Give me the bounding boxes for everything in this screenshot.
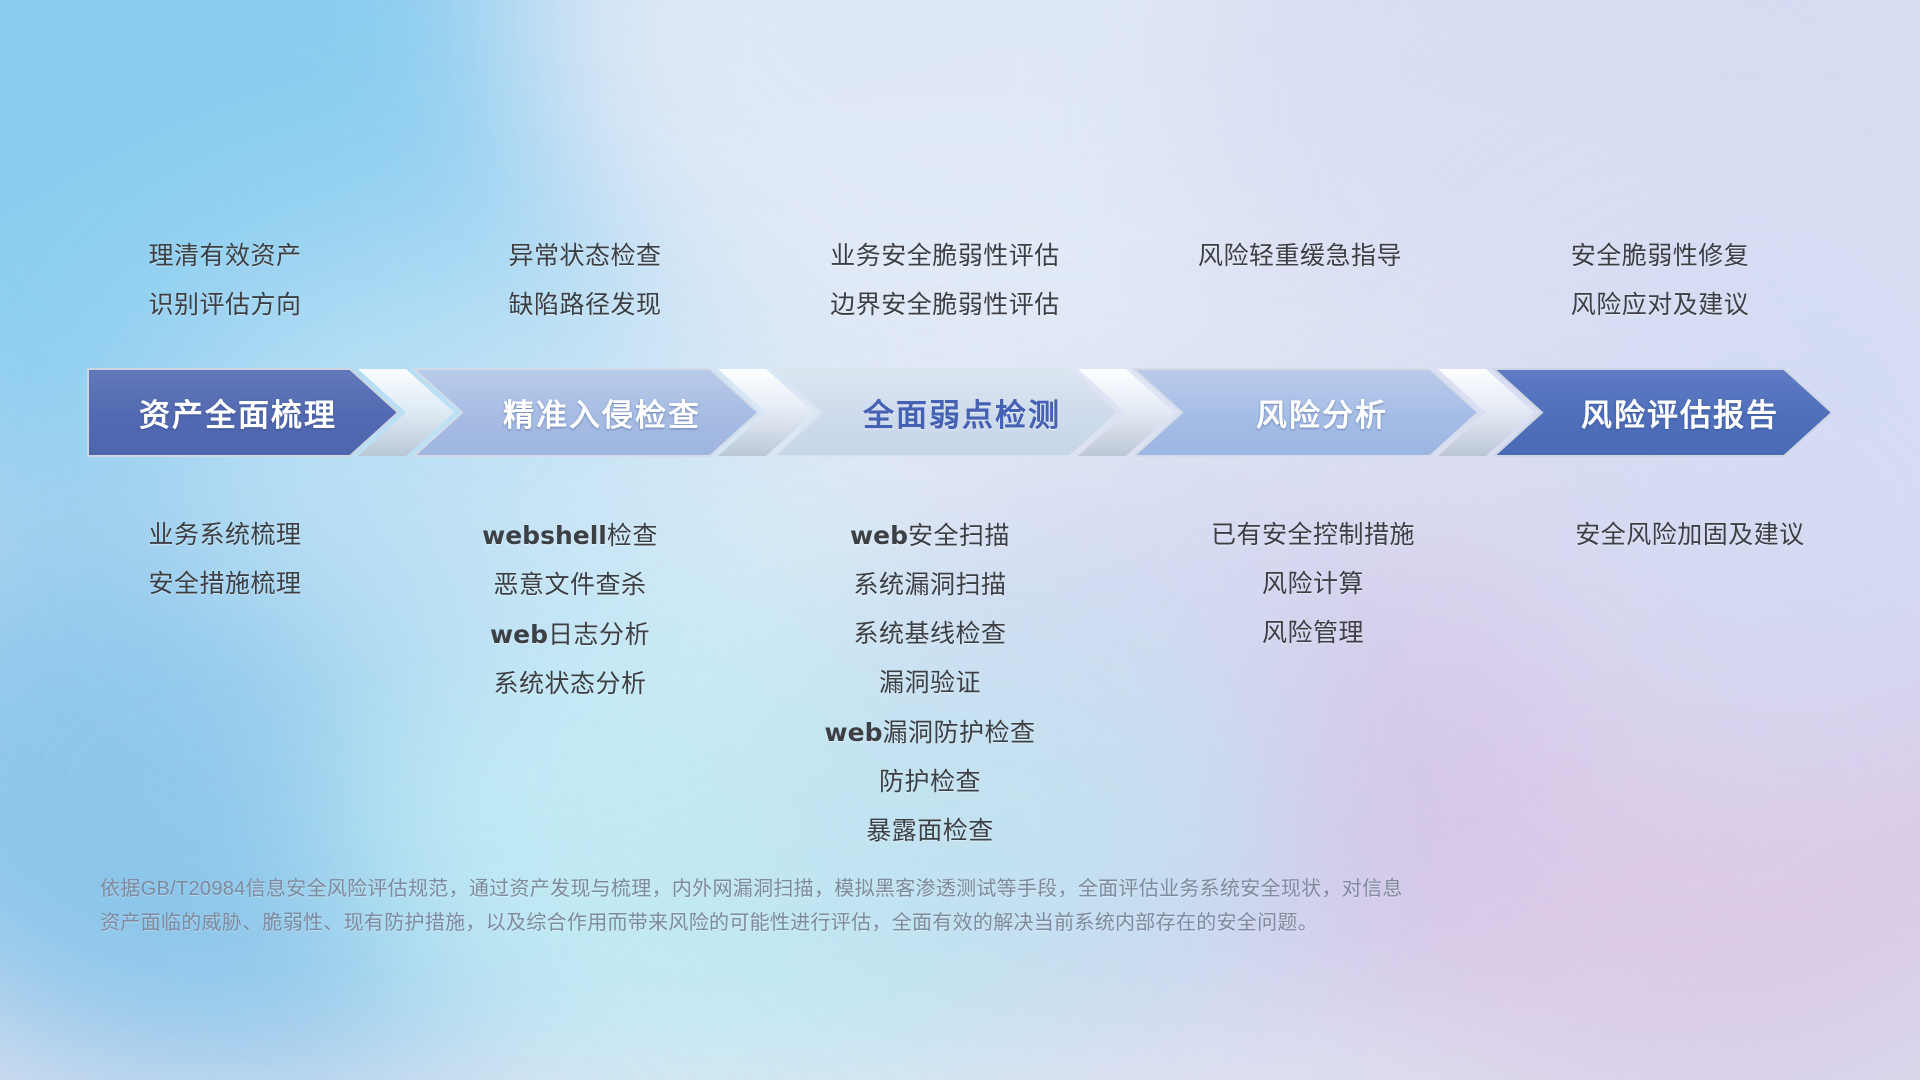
latin-token: webshell [482,521,607,550]
stage-1-top-items: 理清有效资产识别评估方向 [148,232,301,330]
stage-4-top-item: 风险轻重缓急指导 [1198,232,1402,281]
chevron-stage-2 [414,369,758,456]
stage-1-bottom-items: 业务系统梳理安全措施梳理 [148,511,301,609]
stage-4-bottom-item: 已有安全控制措施 [1211,511,1415,560]
stage-5-top-items: 安全脆弱性修复风险应对及建议 [1571,232,1750,330]
stage-3-bottom-items: web安全扫描系统漏洞扫描系统基线检查漏洞验证web漏洞防护检查防护检查暴露面检… [825,511,1036,856]
stage-3-bottom-item: 暴露面检查 [825,807,1036,856]
stage-1-bottom-item: 安全措施梳理 [148,560,301,609]
chevron-stage-3 [774,369,1118,456]
stage-4-top-items: 风险轻重缓急指导 [1198,232,1402,281]
stage-2-bottom-item: 恶意文件查杀 [482,561,658,610]
stage-3-bottom-item: 防护检查 [825,758,1036,807]
process-diagram: 理清有效资产识别评估方向 异常状态检查缺陷路径发现 业务安全脆弱性评估边界安全脆… [0,0,1920,1080]
process-chevron-band [0,365,1920,460]
latin-token: web [825,718,883,747]
stage-2-bottom-item: web日志分析 [482,610,658,660]
stage-2-top-item: 缺陷路径发现 [508,281,661,330]
latin-token: web [490,620,548,649]
stage-1-top-item: 理清有效资产 [148,232,301,281]
stage-4-bottom-item: 风险管理 [1211,609,1415,658]
footnote-line-1: 依据GB/T20984信息安全风险评估规范，通过资产发现与梳理，内外网漏洞扫描，… [100,872,1600,906]
stage-3-bottom-item: 漏洞验证 [825,659,1036,708]
stage-2-bottom-item: 系统状态分析 [482,660,658,709]
stage-1-top-item: 识别评估方向 [148,281,301,330]
chevron-stage-5 [1494,369,1832,456]
stage-4-bottom-item: 风险计算 [1211,560,1415,609]
stage-1-bottom-item: 业务系统梳理 [148,511,301,560]
stage-4-bottom-items: 已有安全控制措施风险计算风险管理 [1211,511,1415,658]
stage-2-top-item: 异常状态检查 [508,232,661,281]
stage-3-bottom-item: web漏洞防护检查 [825,708,1036,758]
stage-3-bottom-item: web安全扫描 [825,511,1036,561]
stage-5-bottom-items: 安全风险加固及建议 [1575,511,1805,560]
stage-3-top-item: 业务安全脆弱性评估 [830,232,1060,281]
stage-2-bottom-item: webshell检查 [482,511,658,561]
footnote-line-2: 资产面临的威胁、脆弱性、现有防护措施，以及综合作用而带来风险的可能性进行评估，全… [100,906,1600,940]
stage-3-bottom-item: 系统漏洞扫描 [825,561,1036,610]
stage-2-top-items: 异常状态检查缺陷路径发现 [508,232,661,330]
stage-5-bottom-item: 安全风险加固及建议 [1575,511,1805,560]
chevron-stage-1 [88,369,398,456]
stage-3-top-item: 边界安全脆弱性评估 [830,281,1060,330]
footnote: 依据GB/T20984信息安全风险评估规范，通过资产发现与梳理，内外网漏洞扫描，… [100,872,1600,940]
stage-3-top-items: 业务安全脆弱性评估边界安全脆弱性评估 [830,232,1060,330]
stage-2-bottom-items: webshell检查恶意文件查杀web日志分析系统状态分析 [482,511,658,709]
latin-token: web [850,521,908,550]
chevron-stage-4 [1134,369,1478,456]
stage-3-bottom-item: 系统基线检查 [825,610,1036,659]
stage-5-top-item: 安全脆弱性修复 [1571,232,1750,281]
stage-5-top-item: 风险应对及建议 [1571,281,1750,330]
